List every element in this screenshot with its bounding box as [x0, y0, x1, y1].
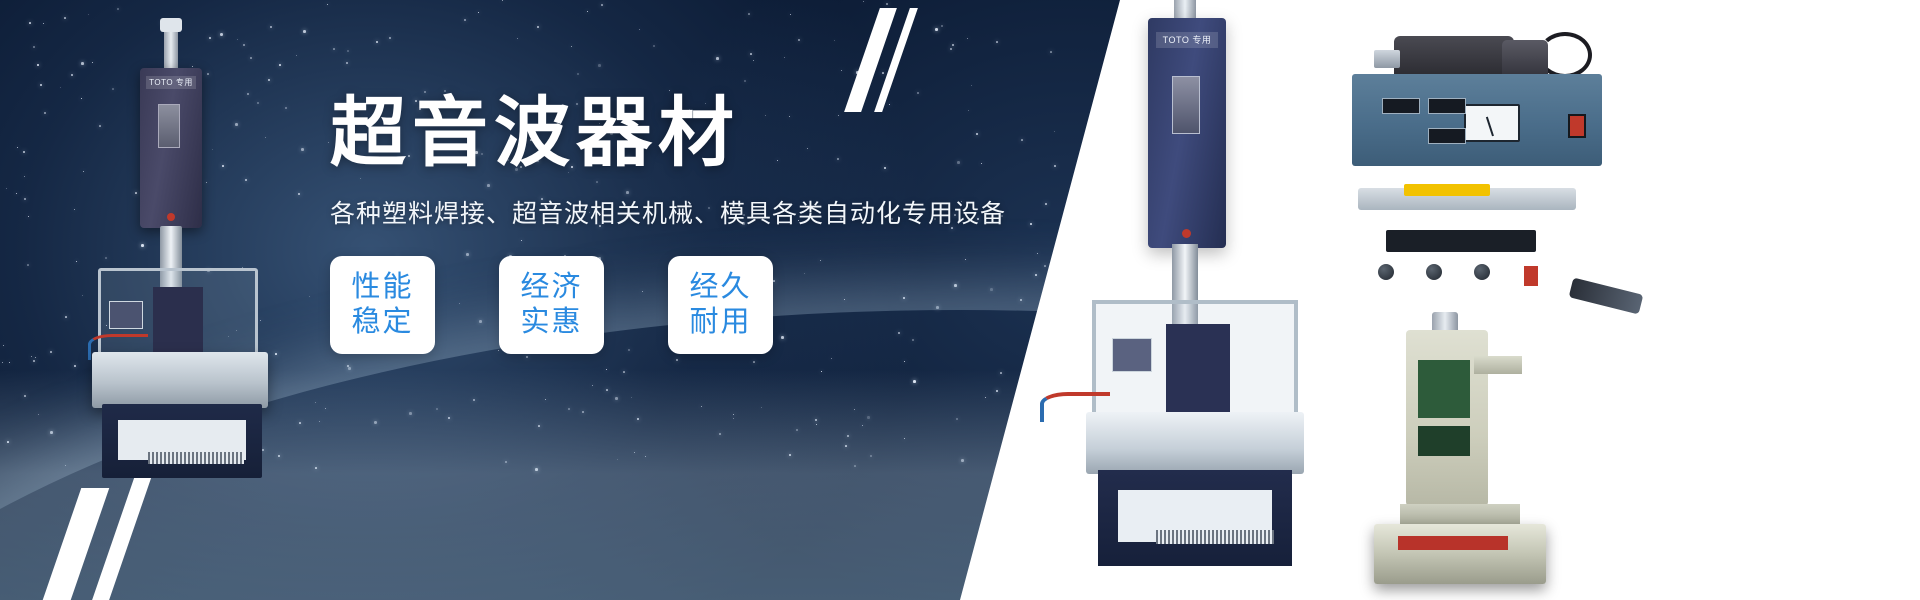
spot-welder-knob-2 — [1426, 264, 1442, 280]
right-machine-head: TOTO 专用 — [1148, 18, 1226, 248]
left-machine-head: TOTO 专用 — [140, 68, 202, 228]
right-machine-fixture — [1166, 324, 1230, 412]
spot-welder-display-window — [1386, 230, 1536, 252]
left-machine-cabinet — [102, 404, 262, 478]
feature-badge-performance-line1: 性能 — [351, 270, 413, 305]
left-machine-piston — [164, 28, 178, 72]
left-machine-brand-label: TOTO 专用 — [146, 76, 196, 89]
banner-subtitle: 各种塑料焊接、超音波相关机械、模具各类自动化专用设备 — [330, 194, 1030, 230]
right-machine-indicator-led — [1182, 229, 1191, 238]
feature-badge-performance-line2: 稳定 — [351, 305, 413, 340]
left-machine-indicator-led — [167, 213, 175, 221]
feature-badge-durability-line2: 耐用 — [689, 305, 751, 340]
feature-badge-list: 性能 稳定 经济 实惠 经久 耐用 — [330, 256, 1030, 354]
product-photo-generator — [1352, 36, 1602, 166]
floor-press-base — [1374, 524, 1546, 584]
floor-press-arm — [1474, 356, 1522, 374]
generator-analog-meter — [1464, 104, 1520, 142]
left-machine-fixture — [153, 287, 203, 353]
floor-press-keypad — [1418, 426, 1470, 456]
spot-welder-power-switch — [1524, 266, 1538, 286]
feature-badge-durability-line1: 经久 — [689, 270, 751, 305]
feature-badge-economy[interactable]: 经济 实惠 — [499, 256, 604, 354]
floor-press-screen — [1418, 360, 1470, 418]
spot-welder-knob-3 — [1474, 264, 1490, 280]
generator-power-switch — [1568, 114, 1586, 138]
banner-copy-block: 超音波器材 各种塑料焊接、超音波相关机械、模具各类自动化专用设备 性能 稳定 经… — [330, 96, 1030, 354]
right-machine-vent-grill — [1156, 530, 1274, 544]
product-photo-spot-welder — [1352, 184, 1612, 314]
right-machine-brand-label: TOTO 专用 — [1156, 32, 1218, 48]
hero-banner: TOTO 专用 TOTO 专用 — [0, 0, 1920, 600]
machine-photo-right: TOTO 专用 — [1080, 0, 1310, 600]
left-machine-vent-grill — [148, 452, 244, 464]
right-machine-control-box — [1112, 338, 1152, 372]
generator-horn-tip — [1374, 50, 1400, 68]
left-machine-cabinet-panel — [118, 420, 246, 460]
generator-display-1 — [1382, 98, 1420, 114]
feature-badge-performance[interactable]: 性能 稳定 — [330, 256, 435, 354]
left-machine-plate — [158, 104, 180, 148]
right-machine-worktable — [1086, 412, 1304, 474]
left-machine-worktable — [92, 352, 268, 408]
spot-welder-chassis — [1352, 202, 1582, 304]
floor-press-red-panel — [1398, 536, 1508, 550]
right-machine-frame — [1092, 300, 1298, 420]
spot-welder-knob-1 — [1378, 264, 1394, 280]
right-machine-cabinet — [1098, 470, 1292, 566]
generator-display-3 — [1428, 128, 1466, 144]
right-machine-cabinet-panel — [1118, 490, 1272, 542]
page-title: 超音波器材 — [330, 96, 1030, 172]
feature-badge-durability[interactable]: 经久 耐用 — [668, 256, 773, 354]
right-machine-plate — [1172, 76, 1200, 134]
spot-welder-yellow-stripe — [1404, 184, 1490, 196]
left-machine-control-box — [109, 301, 143, 329]
product-photo-floor-press — [1370, 330, 1560, 600]
feature-badge-economy-line2: 实惠 — [520, 305, 582, 340]
floor-press-stand — [1400, 504, 1520, 526]
feature-badge-economy-line1: 经济 — [520, 270, 582, 305]
machine-photo-left: TOTO 专用 — [88, 22, 268, 472]
generator-display-2 — [1428, 98, 1466, 114]
generator-chassis — [1352, 74, 1602, 166]
